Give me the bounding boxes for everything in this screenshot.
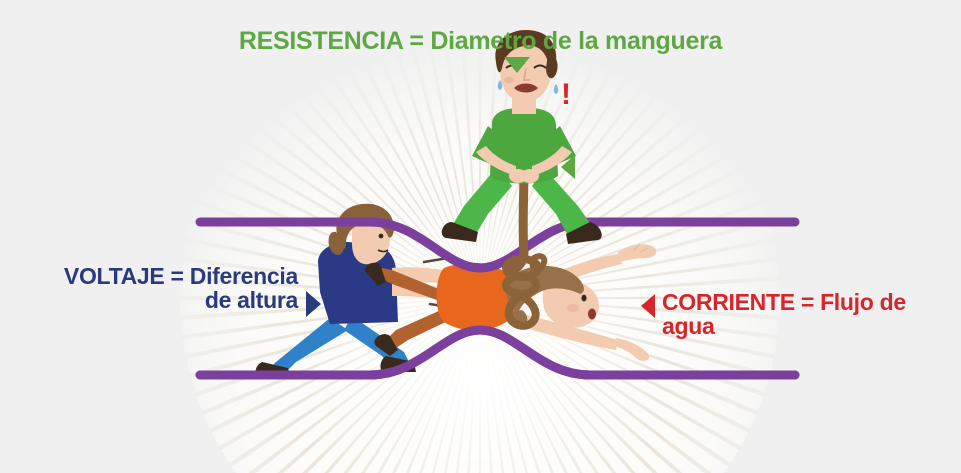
triangle-down-icon (504, 57, 530, 73)
triangle-left-icon (641, 294, 655, 318)
label-resistencia: RESISTENCIA = Diametro de la manguera (0, 28, 961, 54)
exclamation-mark: ! (561, 78, 571, 112)
label-corriente: CORRIENTE = Flujo de agua (662, 290, 922, 338)
triangle-left-hose-marker-icon (561, 155, 575, 179)
triangle-right-icon (306, 291, 321, 317)
label-voltaje: VOLTAJE = Diferencia de altura (58, 264, 298, 312)
illustration (0, 0, 961, 473)
infographic-canvas: RESISTENCIA = Diametro de la manguera VO… (0, 0, 961, 473)
